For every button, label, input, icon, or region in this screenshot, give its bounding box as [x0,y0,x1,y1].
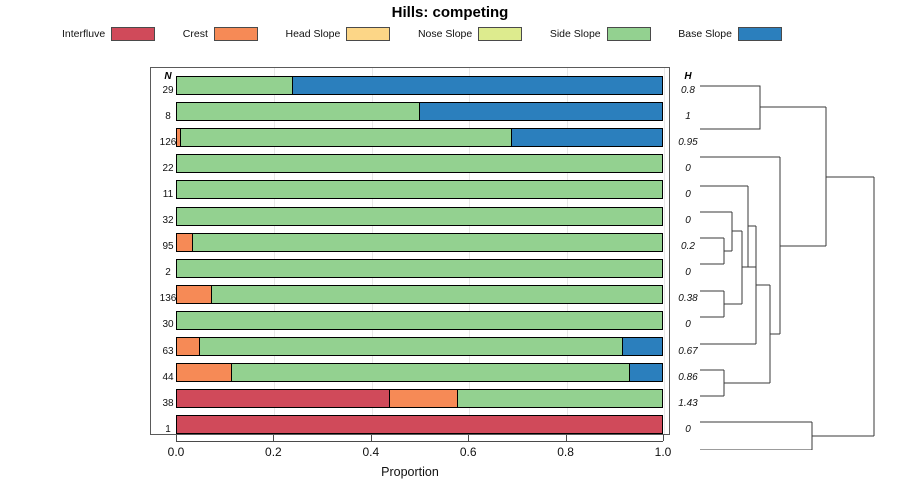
x-tick-label: 0.2 [253,445,293,459]
x-tick [176,435,177,441]
stacked-bar-myers[interactable] [176,415,663,434]
bar-segment-side-slope [181,129,512,146]
legend-label: Side Slope [550,28,601,40]
legend-item-crest: Crest [183,27,258,41]
legend-label: Interfluve [62,28,105,40]
stacked-bar-cropley[interactable] [176,76,663,95]
bar-segment-side-slope [200,338,623,355]
bar-segment-side-slope [177,77,293,94]
x-tick [371,435,372,441]
bar-segment-side-slope [177,312,662,329]
bar-segment-side-slope [177,181,662,198]
x-tick-label: 0.0 [156,445,196,459]
bar-segment-interfluve [177,390,390,407]
legend-swatch [346,27,390,41]
chart-root: Hills: competing InterfluveCrestHead Slo… [0,0,900,500]
bar-segment-crest [177,286,212,303]
stacked-bar-alo[interactable] [176,233,663,252]
stacked-bar-cibo[interactable] [176,363,663,382]
bar-segment-crest [177,364,232,381]
stacked-bar-auld[interactable] [176,180,663,199]
grid-line [664,68,665,434]
legend-label: Base Slope [678,28,732,40]
bar-segment-base-slope [630,364,662,381]
x-tick-label: 0.6 [448,445,488,459]
legend-swatch [214,27,258,41]
legend-swatch [607,27,651,41]
stacked-bar-bosanko[interactable] [176,207,663,226]
bar-segment-side-slope [177,103,420,120]
bar-segment-side-slope [458,390,662,407]
x-tick [468,435,469,441]
legend-label: Crest [183,28,208,40]
stacked-bar-vaquero[interactable] [176,154,663,173]
x-tick-label: 0.4 [351,445,391,459]
bar-segment-base-slope [512,129,662,146]
x-tick [663,435,664,441]
x-tick [566,435,567,441]
stacked-bar-mckeonhills[interactable] [176,259,663,278]
bar-segment-side-slope [177,208,662,225]
stacked-bar-aido[interactable] [176,311,663,330]
x-tick-label: 0.8 [546,445,586,459]
stacked-bar-diablo[interactable] [176,285,663,304]
legend-item-interfluve: Interfluve [62,27,155,41]
page-title: Hills: competing [0,4,900,21]
bar-segment-side-slope [177,155,662,172]
x-axis-line [176,441,663,442]
legend-swatch [738,27,782,41]
bar-segment-crest [177,234,193,251]
legend-item-base-slope: Base Slope [678,27,782,41]
legend-item-side-slope: Side Slope [550,27,651,41]
legend-label: Head Slope [285,28,340,40]
legend: InterfluveCrestHead SlopeNose SlopeSide … [62,25,782,43]
legend-item-nose-slope: Nose Slope [418,27,522,41]
stacked-bar-porterville[interactable] [176,102,663,121]
bar-segment-side-slope [193,234,662,251]
legend-swatch [478,27,522,41]
stacked-bar-sehorn[interactable] [176,337,663,356]
bar-segment-crest [177,338,200,355]
bar-segment-interfluve [177,416,662,433]
bar-segment-side-slope [177,260,662,277]
legend-swatch [111,27,155,41]
bar-segment-base-slope [293,77,662,94]
bar-segment-side-slope [232,364,631,381]
dendrogram [676,60,900,450]
legend-item-head-slope: Head Slope [285,27,390,41]
bar-segment-base-slope [420,103,663,120]
bar-segment-base-slope [623,338,662,355]
stacked-bar-altamont[interactable] [176,128,663,147]
stacked-bar-fiale[interactable] [176,389,663,408]
x-axis-title: Proportion [150,465,670,479]
bar-segment-crest [390,390,458,407]
legend-label: Nose Slope [418,28,472,40]
x-tick [273,435,274,441]
bar-segment-side-slope [212,286,662,303]
